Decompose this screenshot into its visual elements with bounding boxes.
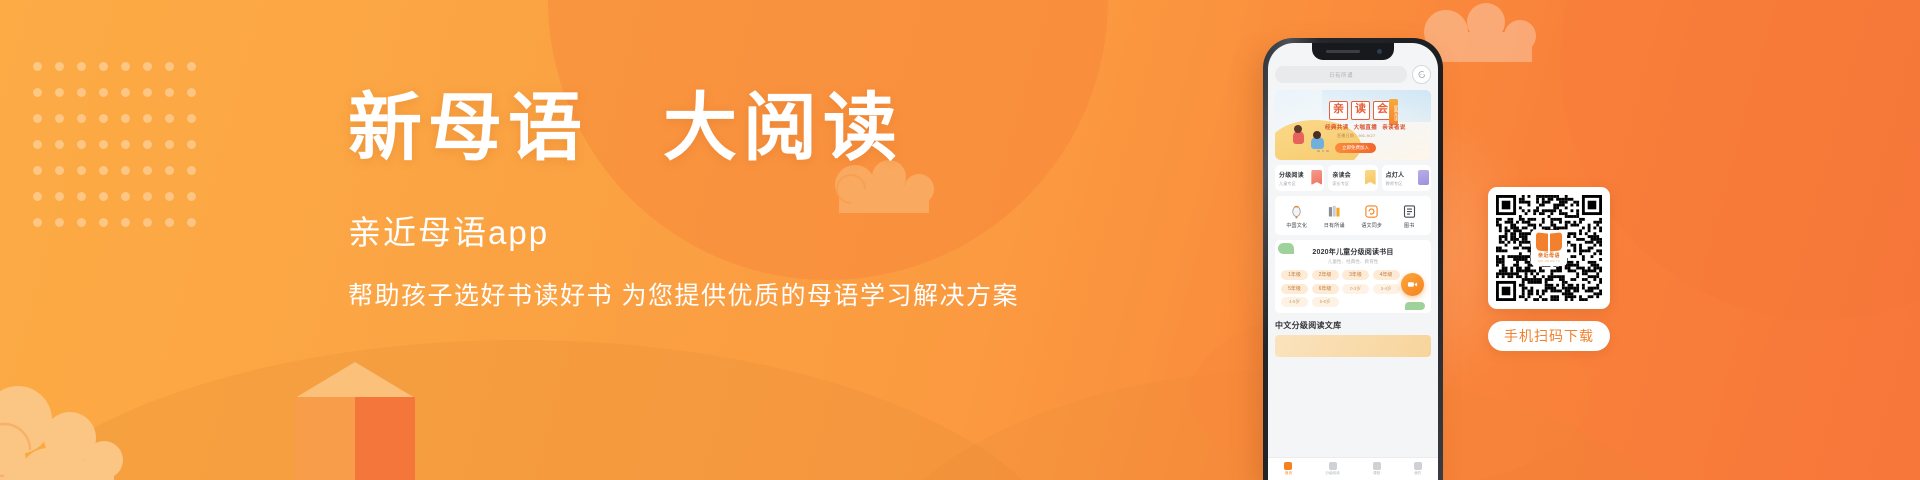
app-search-row: 日有所诵 [1275, 65, 1431, 84]
phone-screen: 日有所诵 亲 读 会 经典 [1268, 43, 1438, 480]
leaf-decor-icon [1405, 302, 1425, 310]
user-icon [1414, 462, 1422, 470]
page-title: 新母语 大阅读 [348, 88, 1048, 171]
home-icon [1284, 462, 1292, 470]
circle-arrow-icon [1364, 203, 1380, 219]
hero-feature-1: 经典共读 [1325, 123, 1349, 131]
tab-profile[interactable]: 我的 [1414, 462, 1422, 476]
grade-chip[interactable]: 4年级 [1373, 270, 1400, 280]
grade-chip[interactable]: 6年级 [1312, 284, 1339, 294]
hero-feature-3: 亲读者说 [1382, 123, 1406, 131]
hero-title: 亲 读 会 [1329, 101, 1392, 120]
grade-chip[interactable]: 1年级 [1281, 270, 1308, 280]
message-icon[interactable] [1412, 65, 1431, 84]
tab-label: 首页 [1285, 471, 1292, 476]
quick-link-label: 语文同步 [1361, 222, 1382, 229]
qr-logo-pinyin: QIN JIN MU YU [1538, 260, 1560, 263]
quick-link-label: 中国文化 [1286, 222, 1307, 229]
app-booklist-module: 2020年儿童分级阅读书目 儿童性、经典性、教育性 1年级 2年级 3年级 4年… [1275, 240, 1431, 313]
tab-label: 我的 [1414, 471, 1421, 476]
qr-center-logo: 亲近母语 QIN JIN MU YU [1531, 230, 1567, 266]
hero-feature-2: 大咖直播 [1354, 123, 1378, 131]
book-icon [1401, 203, 1417, 219]
age-chip[interactable]: 3-4岁 [1373, 284, 1400, 294]
category-card-graded-reading[interactable]: 分级阅读 儿童专区 [1275, 165, 1324, 191]
tab-courses[interactable]: 课程 [1373, 462, 1381, 476]
lantern-icon [1289, 203, 1305, 219]
app-name-subtitle: 亲近母语app [348, 213, 1048, 253]
video-camera-icon [1407, 279, 1418, 290]
headline-first: 新母语 [348, 88, 588, 170]
leaf-decor-icon [1278, 243, 1294, 254]
quick-link-label: 日有所诵 [1324, 222, 1345, 229]
quick-link-chinese-culture[interactable]: 中国文化 [1278, 203, 1316, 229]
booklist-title: 2020年儿童分级阅读书目 [1281, 247, 1425, 257]
quick-link-label: 图书 [1404, 222, 1414, 229]
qr-block: 亲近母语 QIN JIN MU YU 手机扫码下载 [1488, 187, 1610, 351]
books-icon [1326, 203, 1342, 219]
age-chip[interactable]: 0-3岁 [1342, 284, 1369, 294]
decor-hill-left [0, 340, 1080, 480]
decor-circle-right [1560, 0, 1920, 320]
decor-box-shape [295, 362, 415, 480]
hero-features: 经典共读 大咖直播 亲读者说 [1325, 123, 1406, 131]
app-hero-banner[interactable]: 亲 读 会 经典共读 经典共读 大咖直播 亲读者说 直播日期：9/6-9/27 … [1275, 90, 1431, 160]
category-card-teacher[interactable]: 点灯人 教师专区 [1382, 165, 1431, 191]
tab-graded-reading[interactable]: 分级阅读 [1325, 462, 1339, 476]
hero-char-2: 读 [1351, 101, 1370, 120]
booklist-subtitle: 儿童性、经典性、教育性 [1281, 259, 1425, 265]
headline-block: 新母语 大阅读 亲近母语app 帮助孩子选好书读好书 为您提供优质的母语学习解决… [348, 88, 1048, 313]
library-banner[interactable] [1275, 335, 1431, 357]
phone-notch [1312, 43, 1394, 60]
hero-char-1: 亲 [1329, 101, 1348, 120]
grade-chip[interactable]: 5年级 [1281, 284, 1308, 294]
grade-chip[interactable]: 2年级 [1312, 270, 1339, 280]
tab-home[interactable]: 首页 [1284, 462, 1292, 476]
app-category-cards: 分级阅读 儿童专区 亲读会 家长专区 点灯人 教师专区 [1275, 165, 1431, 191]
app-tab-bar: 首页 分级阅读 课程 我的 [1268, 457, 1438, 480]
hero-ribbon: 经典共读 [1389, 99, 1398, 125]
quick-link-daily-recitation[interactable]: 日有所诵 [1316, 203, 1354, 229]
open-book-icon [1536, 233, 1562, 251]
hero-carousel-dots[interactable] [1317, 150, 1329, 153]
promo-banner: 新母语 大阅读 亲近母语app 帮助孩子选好书读好书 为您提供优质的母语学习解决… [0, 0, 1920, 480]
tab-label: 课程 [1373, 471, 1380, 476]
reading-icon [1329, 462, 1337, 470]
app-content: 日有所诵 亲 读 会 经典 [1268, 43, 1438, 357]
download-button[interactable]: 手机扫码下载 [1488, 321, 1610, 351]
phone-mockup: 日有所诵 亲 读 会 经典 [1263, 38, 1443, 480]
play-video-button[interactable] [1401, 273, 1424, 296]
quick-link-books[interactable]: 图书 [1391, 203, 1429, 229]
person-icon [1418, 170, 1429, 185]
category-card-parent-club[interactable]: 亲读会 家长专区 [1328, 165, 1377, 191]
decor-dot-grid [33, 62, 209, 244]
tagline-text: 帮助孩子选好书读好书 为您提供优质的母语学习解决方案 [348, 280, 1048, 313]
hero-join-button[interactable]: 立即免费加入 [1335, 143, 1376, 153]
qr-logo-name: 亲近母语 [1538, 252, 1560, 259]
grade-chip[interactable]: 3年级 [1342, 270, 1369, 280]
hero-date: 直播日期：9/6-9/27 [1337, 133, 1376, 139]
age-chip[interactable]: 4-5岁 [1281, 297, 1308, 307]
app-quick-links: 中国文化 日有所诵 语文同步 [1275, 196, 1431, 235]
course-icon [1373, 462, 1381, 470]
library-section-title: 中文分级阅读文库 [1275, 320, 1431, 331]
tab-label: 分级阅读 [1325, 471, 1339, 476]
quick-link-textbook-sync[interactable]: 语文同步 [1353, 203, 1391, 229]
headline-second: 大阅读 [663, 88, 903, 170]
age-chip[interactable]: 5-6岁 [1312, 297, 1339, 307]
qr-code-card: 亲近母语 QIN JIN MU YU [1488, 187, 1610, 309]
search-input[interactable]: 日有所诵 [1275, 66, 1407, 83]
